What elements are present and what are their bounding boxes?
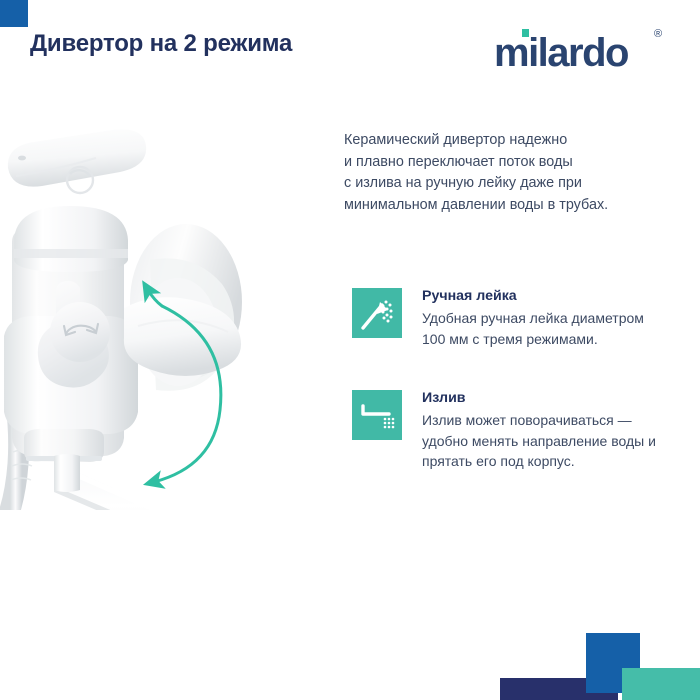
feature-title: Излив bbox=[422, 390, 672, 407]
intro-paragraph: Керамический дивертор надежно и плавно п… bbox=[344, 130, 674, 216]
brand-logo: milardo ® bbox=[494, 33, 628, 73]
decor-rect-bottom-teal bbox=[622, 668, 700, 700]
hand-shower-icon bbox=[352, 288, 402, 338]
feature-description-line: Удобная ручная лейка диаметром bbox=[422, 308, 672, 329]
feature-description-line: удобно менять направление воды и bbox=[422, 431, 672, 452]
feature-spout: Излив Излив может поворачиваться — удобн… bbox=[352, 390, 672, 472]
feature-title: Ручная лейка bbox=[422, 288, 672, 305]
infographic-page: Дивертор на 2 режима milardo ® bbox=[0, 0, 700, 700]
intro-line: Керамический дивертор надежно bbox=[344, 130, 674, 152]
spout-icon bbox=[352, 390, 402, 440]
registered-trademark-icon: ® bbox=[654, 29, 662, 40]
logo-wordmark: milardo bbox=[494, 31, 628, 75]
intro-line: с излива на ручную лейку даже при bbox=[344, 173, 674, 195]
feature-description-line: Излив может поворачиваться — bbox=[422, 410, 672, 431]
feature-description-line: прятать его под корпус. bbox=[422, 451, 672, 472]
feature-description: Излив может поворачиваться — удобно меня… bbox=[422, 410, 672, 472]
feature-hand-shower: Ручная лейка Удобная ручная лейка диамет… bbox=[352, 288, 672, 349]
decor-square-top-left bbox=[0, 0, 28, 27]
page-title: Дивертор на 2 режима bbox=[30, 30, 292, 58]
feature-description: Удобная ручная лейка диаметром 100 мм с … bbox=[422, 308, 672, 349]
product-image bbox=[0, 110, 345, 510]
intro-line: минимальном давлении воды в трубах. bbox=[344, 195, 674, 217]
feature-description-line: 100 мм с тремя режимами. bbox=[422, 329, 672, 350]
logo-dot-icon bbox=[522, 29, 529, 37]
intro-line: и плавно переключает поток воды bbox=[344, 152, 674, 174]
